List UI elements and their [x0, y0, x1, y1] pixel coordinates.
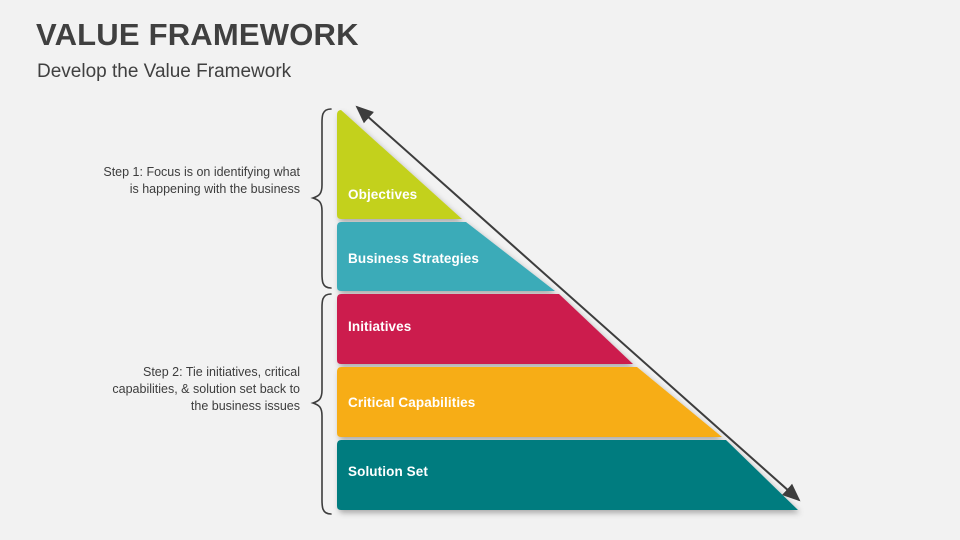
- band-business-strategies[interactable]: [337, 222, 555, 291]
- value-framework-diagram: [0, 0, 960, 540]
- bracket-step-2: [313, 294, 331, 514]
- band-initiatives[interactable]: [337, 294, 633, 364]
- pyramid-bands: [337, 110, 798, 510]
- band-critical-capabilities[interactable]: [337, 367, 722, 437]
- step-1-caption: Step 1: Focus is on identifying what is …: [100, 164, 300, 198]
- band-objectives[interactable]: [337, 110, 462, 219]
- slide-canvas: VALUE FRAMEWORK Develop the Value Framew…: [0, 0, 960, 540]
- band-solution-set[interactable]: [337, 440, 798, 510]
- step-2-caption: Step 2: Tie initiatives, critical capabi…: [100, 364, 300, 415]
- bracket-step-1: [313, 109, 331, 288]
